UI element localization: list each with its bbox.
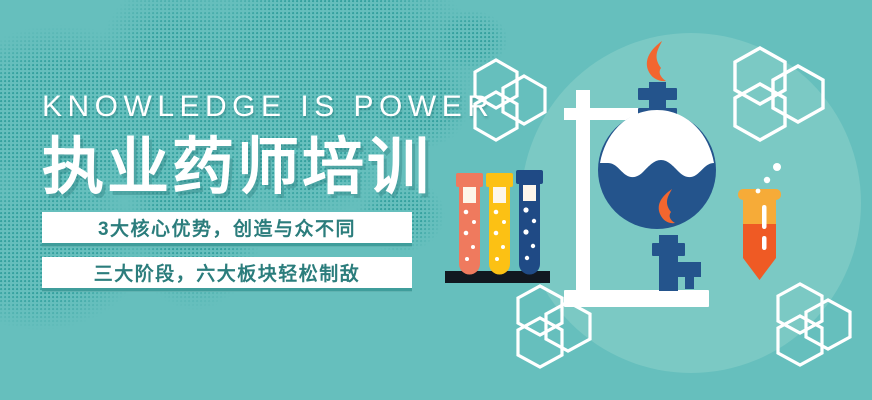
test-tube-yellow-icon (486, 173, 513, 275)
eyebrow-tagline: KNOWLEDGE IS POWER (42, 92, 442, 122)
test-tube-coral-icon (456, 173, 483, 275)
bubbles-icon (756, 163, 781, 193)
promo-banner: KNOWLEDGE IS POWER 执业药师培训 3大核心优势，创造与众不同 … (0, 0, 872, 400)
hexagon-cluster-bottom-right-icon (778, 284, 850, 365)
round-bottom-flask-icon (598, 110, 716, 229)
page-title: 执业药师培训 (42, 136, 442, 200)
feature-pill-2: 三大阶段，六大板块轻松制敌 (42, 257, 412, 291)
bunsen-burner-icon (652, 235, 701, 291)
test-tube-navy-icon (516, 170, 543, 275)
flask-flame-icon (647, 41, 666, 81)
text-block: KNOWLEDGE IS POWER 执业药师培训 3大核心优势，创造与众不同 … (42, 92, 442, 291)
chemistry-lab-illustration (430, 0, 872, 400)
hexagon-cluster-top-left-icon (475, 60, 545, 140)
feature-pill-1: 3大核心优势，创造与众不同 (42, 212, 412, 246)
hexagon-cluster-top-right-icon (735, 48, 823, 140)
centrifuge-vial-icon (738, 189, 781, 280)
